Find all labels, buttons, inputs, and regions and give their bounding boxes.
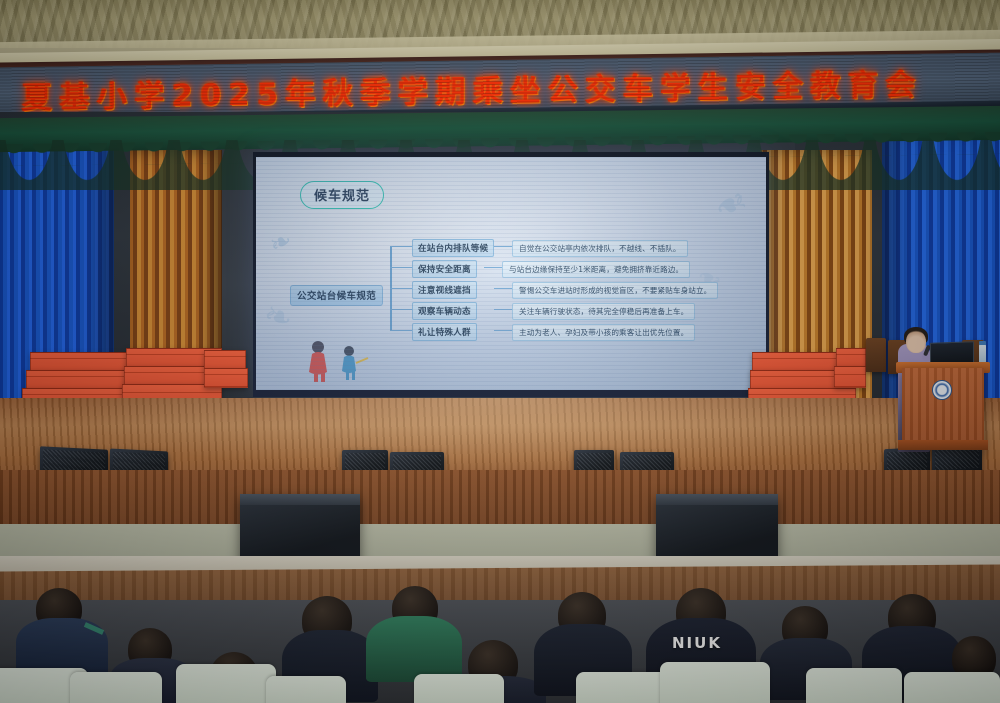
mindmap-connector [390, 309, 412, 310]
choir-riser [204, 350, 246, 370]
mindmap-connector [390, 288, 412, 289]
mindmap-key-node: 保持安全距离 [412, 260, 477, 278]
mindmap-detail-node: 与站台边缘保持至少1米距离，避免拥挤靠近路边。 [502, 261, 690, 278]
mindmap-connector [494, 246, 512, 247]
bamboo-leaf-decoration: ❧ [265, 224, 298, 261]
mindmap-detail-node: 主动为老人、孕妇及带小孩的乘客让出优先位置。 [512, 324, 695, 341]
audience-seatback [414, 674, 504, 703]
presenter-head [906, 330, 926, 353]
slide-title: 候车规范 [300, 181, 384, 209]
speaker-grill [577, 453, 611, 471]
audience-seatback [660, 662, 770, 703]
mindmap-key-node: 注意视线遮挡 [412, 281, 477, 299]
audience-seatback [266, 676, 346, 703]
mindmap-connector [494, 309, 512, 310]
two-children-illustration [292, 335, 382, 387]
choir-riser [834, 366, 866, 388]
mindmap-key-node: 在站台内排队等候 [412, 239, 494, 257]
mindmap-key-node: 观察车辆动态 [412, 302, 477, 320]
mindmap-connector [494, 288, 512, 289]
mindmap-connector [484, 267, 502, 268]
audience-seatback [176, 664, 276, 703]
stage-front-panel [0, 470, 1000, 532]
choir-riser [836, 348, 866, 368]
subwoofer-top [240, 494, 360, 505]
mindmap-connector [390, 246, 412, 247]
water-bottle [979, 344, 986, 364]
choir-riser [204, 368, 248, 388]
mindmap-detail-node: 自觉在公交站亭内依次排队，不越线、不插队。 [512, 240, 688, 257]
audience-shoulders [366, 616, 462, 682]
mindmap-detail-node: 关注车辆行驶状态，待其完全停稳后再准备上车。 [512, 303, 695, 320]
speaker-grill [935, 448, 979, 470]
mindmap-key-node: 礼让特殊人群 [412, 323, 477, 341]
wooden-chair [866, 338, 886, 372]
school-emblem [932, 380, 952, 400]
speaker-grill [345, 453, 385, 471]
subwoofer-top [656, 494, 778, 505]
projection-screen: ❧ ❧ ❧ ❧ 候车规范 公交站台候车规范 在站台内排队等候 保持安全距离 注意… [256, 157, 766, 390]
mindmap-connector [494, 330, 512, 331]
speaker-grill [887, 450, 927, 472]
audience-seatback [904, 672, 1000, 703]
mindmap-root-node: 公交站台候车规范 [290, 285, 383, 306]
bamboo-leaf-decoration: ❧ [705, 176, 757, 233]
jacket-text: NIUK [672, 634, 722, 652]
mindmap-connector [390, 330, 412, 331]
mindmap-detail-node: 警惕公交车进站时形成的视觉盲区，不要紧贴车身站立。 [512, 282, 718, 299]
mindmap-connector [390, 267, 412, 268]
auditorium-photo: 夏基小学2025年秋季学期乘坐公交车学生安全教育会 ❧ ❧ ❧ ❧ 候车规范 公… [0, 0, 1000, 703]
audience-seatback [806, 668, 902, 703]
audience-seatback [70, 672, 162, 703]
water-bottle-cap [979, 341, 986, 345]
podium-base [898, 440, 988, 450]
